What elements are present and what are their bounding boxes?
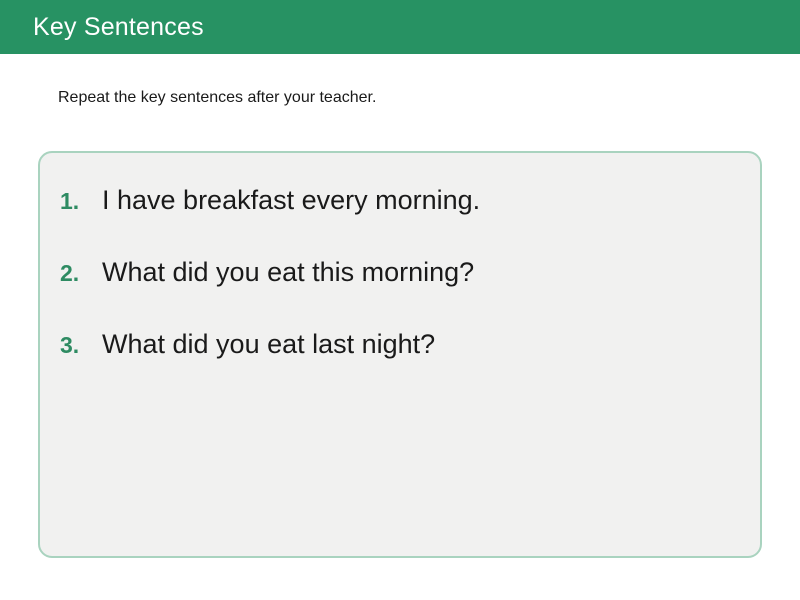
- list-item-text: What did you eat this morning?: [102, 259, 474, 286]
- sentence-list: 1. I have breakfast every morning. 2. Wh…: [40, 187, 760, 403]
- list-item-number: 2.: [60, 262, 102, 285]
- list-item-number: 3.: [60, 334, 102, 357]
- list-item-text: What did you eat last night?: [102, 331, 435, 358]
- sentences-card: 1. I have breakfast every morning. 2. Wh…: [38, 151, 762, 558]
- list-item: 1. I have breakfast every morning.: [40, 187, 760, 259]
- instruction-text: Repeat the key sentences after your teac…: [58, 88, 376, 109]
- header-bar: Key Sentences: [0, 0, 800, 54]
- list-item-number: 1.: [60, 190, 102, 213]
- slide: Key Sentences Repeat the key sentences a…: [0, 0, 800, 600]
- list-item: 2. What did you eat this morning?: [40, 259, 760, 331]
- list-item: 3. What did you eat last night?: [40, 331, 760, 403]
- page-title: Key Sentences: [33, 15, 204, 40]
- list-item-text: I have breakfast every morning.: [102, 187, 480, 214]
